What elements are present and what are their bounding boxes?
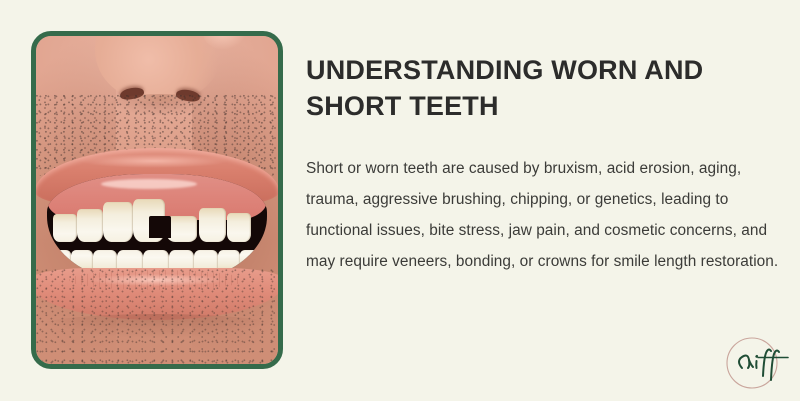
body-paragraph: Short or worn teeth are caused by bruxis… <box>306 124 792 277</box>
gum-highlight <box>101 179 197 189</box>
lower-tooth <box>51 250 71 270</box>
page-title: UNDERSTANDING WORN AND SHORT TEETH <box>306 52 792 124</box>
upper-tooth <box>77 209 103 242</box>
logo-circle-icon <box>727 338 777 388</box>
teeth-photo <box>36 36 278 364</box>
tooth-gap-shadow <box>149 216 171 238</box>
content-column: UNDERSTANDING WORN AND SHORT TEETH Short… <box>306 52 792 277</box>
upper-lip-highlight <box>79 154 229 168</box>
infographic-root: UNDERSTANDING WORN AND SHORT TEETH Short… <box>0 0 800 400</box>
upper-tooth <box>103 202 133 242</box>
lower-tooth <box>240 250 260 269</box>
stubble-chin <box>36 268 278 364</box>
brand-logo <box>718 330 794 396</box>
upper-tooth-chipped <box>167 216 197 242</box>
upper-teeth-row <box>53 198 261 242</box>
upper-tooth <box>199 208 226 242</box>
upper-tooth <box>53 214 77 242</box>
photo-panel <box>31 31 283 369</box>
upper-tooth <box>227 213 251 242</box>
